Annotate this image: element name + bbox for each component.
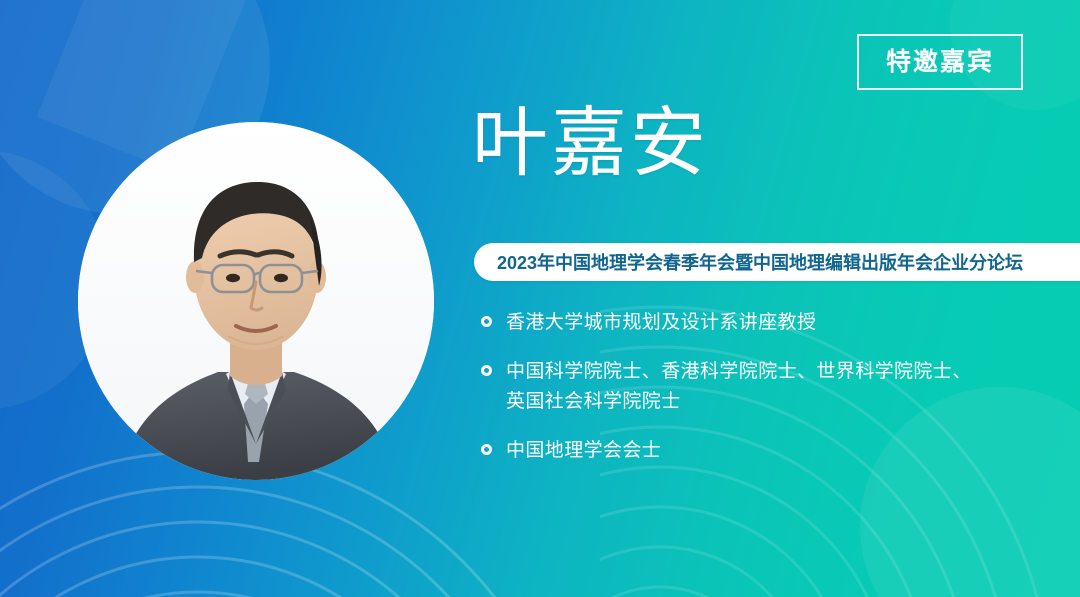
list-item: 中国地理学会会士 [481, 436, 1041, 465]
credential-text: 中国地理学会会士 [506, 436, 661, 465]
invited-guest-badge: 特邀嘉宾 [857, 34, 1023, 90]
credentials-list: 香港大学城市规划及设计系讲座教授 中国科学院院士、香港科学院院士、世界科学院院士… [481, 308, 1041, 466]
credential-text: 中国科学院院士、香港科学院院士、世界科学院院士、 英国社会科学院院士 [506, 357, 972, 416]
ring-bullet-icon [481, 444, 492, 455]
event-banner-title: 2023年中国地理学会春季年会暨中国地理编辑出版年会企业分论坛 [497, 249, 1023, 275]
list-item: 香港大学城市规划及设计系讲座教授 [481, 308, 1041, 337]
speaker-portrait [78, 122, 434, 480]
event-banner: 2023年中国地理学会春季年会暨中国地理编辑出版年会企业分论坛 [474, 243, 1080, 281]
speaker-card-slide: 特邀嘉宾 叶嘉安 2023年中国地理学会春季年会暨中国地理编辑出版年会企业分论坛… [0, 0, 1080, 597]
speaker-name: 叶嘉安 [472, 104, 709, 184]
list-item: 中国科学院院士、香港科学院院士、世界科学院院士、 英国社会科学院院士 [481, 357, 1041, 416]
badge-label: 特邀嘉宾 [886, 50, 994, 75]
credential-text: 香港大学城市规划及设计系讲座教授 [506, 308, 816, 337]
ring-bullet-icon [481, 365, 492, 376]
ring-bullet-icon [481, 316, 492, 327]
